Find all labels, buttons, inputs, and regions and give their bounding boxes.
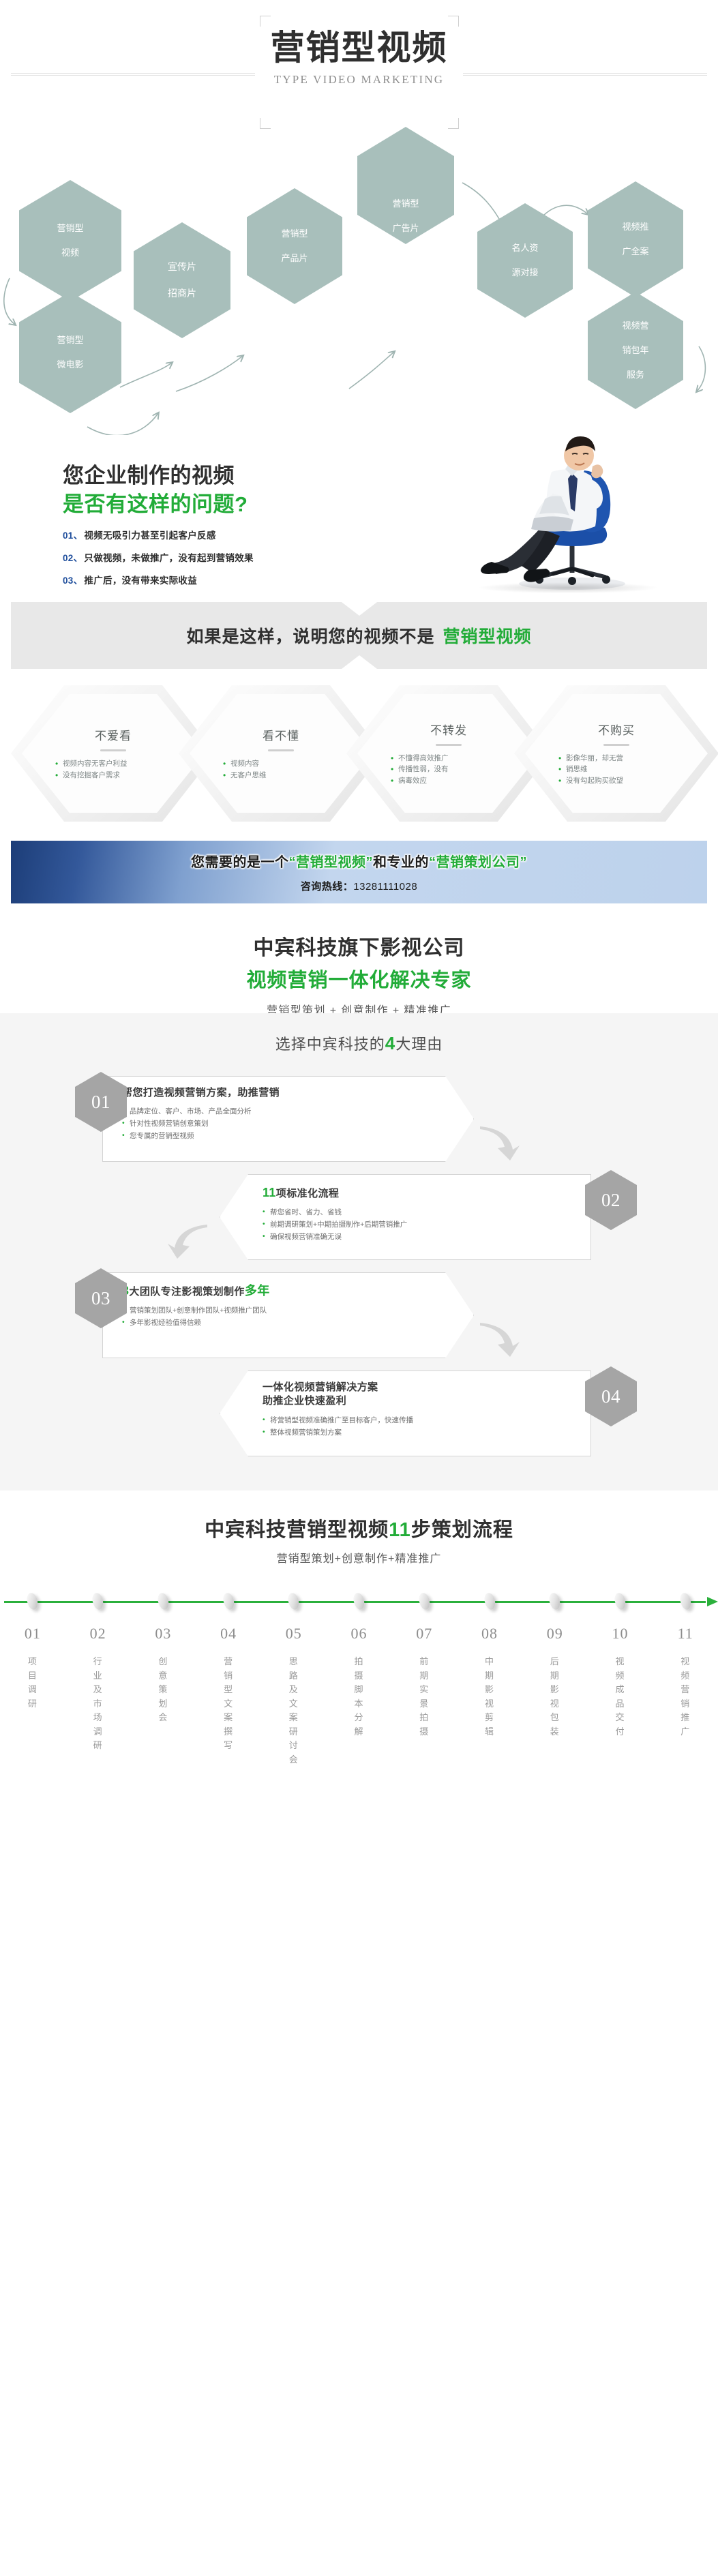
problem-item-text: 只做视频，未做推广，没有起到营销效果 — [84, 550, 253, 564]
grey-banner-text: 如果是这样，说明您的视频不是营销型视频 — [186, 623, 531, 648]
timeline-title-pre: 中宾科技营销型视频 — [205, 1519, 389, 1541]
bullet: 传播性弱，没有 — [391, 764, 513, 775]
reason-card-3[interactable]: 3大团队专注影视策划制作多年 营销策划团队+创意制作团队+视频推广团队 多年影视… — [0, 1268, 718, 1361]
reason-card-body: 一体化视频营销解决方案助推企业快速盈利 将营销型视频准确推广至目标客户，快速传播… — [220, 1371, 591, 1456]
bullet: 无客户思维 — [223, 770, 346, 781]
reason-headline-suffix: 多年 — [245, 1284, 270, 1298]
reason-headline: 11项标准化流程 — [263, 1184, 577, 1201]
timeline-step-8[interactable]: 08 中期影视剪辑 — [457, 1594, 522, 1767]
step-number: 04 — [196, 1625, 261, 1643]
notch-top-icon — [342, 602, 377, 616]
hex-service-3[interactable]: 宣传片招商片 — [134, 222, 230, 338]
bullet: 营销策划团队+创意制作团队+视频推广团队 — [122, 1304, 460, 1317]
grey-banner-plain: 如果是这样，说明您的视频不是 — [186, 627, 434, 646]
timeline-title: 中宾科技营销型视频11步策划流程 — [0, 1514, 718, 1542]
reason-headline: 3大团队专注影视策划制作多年 — [122, 1283, 460, 1299]
corner-bracket-icon — [448, 16, 459, 27]
timeline-title-post: 步策划流程 — [411, 1519, 513, 1541]
hex-label-line3: 服务 — [618, 369, 653, 381]
corner-bracket-icon — [260, 118, 271, 129]
hex-label-line1: 营销型 — [277, 228, 312, 240]
step-label: 行业及市场调研 — [65, 1655, 131, 1753]
step-number: 07 — [391, 1625, 457, 1643]
problem-item-text: 视频无吸引力甚至引起客户反感 — [84, 528, 215, 541]
pin-icon — [613, 1592, 627, 1611]
step-label: 拍摄脚本分解 — [327, 1655, 392, 1739]
page-subtitle-en: TYPE VIDEO MARKETING — [257, 73, 462, 87]
curved-arrow-down-right-icon — [477, 1122, 525, 1162]
badge-pointer-icon — [601, 1229, 620, 1248]
hex-label-line1: 名人资 — [507, 242, 542, 254]
hex-label-line2: 广告片 — [388, 222, 423, 235]
step-label: 中期影视剪辑 — [457, 1655, 522, 1739]
hex-service-7[interactable]: 视频推广全案 — [588, 181, 683, 297]
step-label: 项目调研 — [0, 1655, 65, 1711]
bullet-continuation: 病毒效应 — [391, 775, 513, 786]
hex-label-line1: 宣传片 — [164, 260, 200, 273]
timeline-step-7[interactable]: 07 前期实景拍摄 — [391, 1594, 457, 1767]
pain-card-title: 不购买 — [552, 721, 681, 738]
timeline-step-4[interactable]: 04 营销型文案撰写 — [196, 1594, 261, 1767]
hex-service-6[interactable]: 名人资源对接 — [477, 203, 573, 318]
timeline-subtitle: 营销型策划+创意制作+精准推广 — [0, 1549, 718, 1566]
hero-section: 营销型视频 TYPE VIDEO MARKETING — [0, 0, 718, 162]
step-number: 05 — [261, 1625, 327, 1643]
reasons-title-post: 大理由 — [395, 1036, 443, 1053]
title-underline — [436, 744, 462, 746]
page-title: 营销型视频 — [257, 27, 462, 69]
hex-label-line2: 广全案 — [618, 245, 653, 258]
hex-label-line2: 微电影 — [53, 359, 87, 371]
cta-headline: 您需要的是一个“营销型视频”和专业的“营销策划公司” — [191, 851, 527, 871]
problem-heading-line1: 您企业制作的视频 — [63, 458, 235, 489]
reason-card-body: 11项标准化流程 帮您省时、省力、省钱 前期调研策划+中期拍摄制作+后期营销推广… — [220, 1174, 591, 1260]
step-number: 02 — [65, 1625, 131, 1643]
reason-headline-number: 11 — [263, 1186, 276, 1199]
hex-label-line1: 视频营 — [618, 320, 653, 332]
reason-number: 03 — [91, 1288, 110, 1309]
reason-number: 02 — [601, 1190, 620, 1211]
pain-card-bullets: 视频内容 无客户思维 — [216, 758, 346, 781]
problem-item: 01、 视频无吸引力甚至引起客户反感 — [63, 528, 254, 541]
bullet: 前期调研策划+中期拍摄制作+后期营销推广 — [263, 1218, 577, 1231]
hex-label-line2: 销包年 — [618, 344, 653, 357]
corner-bracket-icon — [260, 16, 271, 27]
timeline-step-10[interactable]: 10 视频成品交付 — [588, 1594, 653, 1767]
step-number: 09 — [522, 1625, 588, 1643]
bullet: 视频内容无客户利益 — [55, 758, 178, 769]
problem-list: 01、 视频无吸引力甚至引起客户反感 02、 只做视频，未做推广，没有起到营销效… — [63, 528, 254, 595]
blue-cta-banner: 您需要的是一个“营销型视频”和专业的“营销策划公司” 咨询热线：13281111… — [11, 841, 707, 903]
pin-icon — [286, 1592, 301, 1611]
reason-card-1[interactable]: 帮您打造视频营销方案，助推营销 品牌定位、客户、市场、产品全面分析 针对性视频营… — [0, 1072, 718, 1165]
cta-text-d: “营销策划公司” — [429, 855, 527, 870]
problem-item-number: 01、 — [63, 528, 83, 541]
bullet: 品牌定位、客户、市场、产品全面分析 — [122, 1105, 460, 1118]
reasons-title-number: 4 — [385, 1033, 395, 1053]
bullet: 影像华丽，却无营 — [558, 753, 681, 764]
hero-title-box: 营销型视频 TYPE VIDEO MARKETING — [257, 12, 462, 132]
cta-text-a: 您需要的是一个 — [191, 855, 289, 870]
photo-ground-shadow — [479, 582, 657, 593]
reason-headline-text: 大团队专注影视策划制作 — [129, 1286, 244, 1298]
pin-icon — [26, 1592, 40, 1611]
hex-service-4[interactable]: 营销型产品片 — [247, 188, 342, 304]
pain-card-title: 看不懂 — [216, 726, 346, 743]
hex-label-line1: 营销型 — [388, 198, 423, 210]
reason-headline-suffix: 助推企业快速盈利 — [263, 1395, 346, 1407]
problem-item-number: 03、 — [63, 573, 83, 586]
company-name: 中宾科技旗下影视公司 — [0, 931, 718, 961]
bullet: 您专属的营销型视频 — [122, 1130, 460, 1142]
pin-icon — [352, 1592, 366, 1611]
pain-card-title: 不转发 — [384, 721, 513, 738]
step-number: 03 — [130, 1625, 196, 1643]
title-underline — [603, 744, 629, 746]
bullet: 确保视频营销准确无误 — [263, 1231, 577, 1243]
reason-headline-text: 项标准化流程 — [276, 1188, 339, 1199]
reasons-title-pre: 选择中宾科技的 — [275, 1036, 385, 1053]
hotline-number[interactable]: 13281111028 — [353, 881, 417, 893]
pin-icon — [483, 1592, 497, 1611]
pin-icon — [548, 1592, 562, 1611]
hex-label-line1: 营销型 — [53, 222, 87, 235]
hex-label-line2: 招商片 — [164, 287, 200, 300]
timeline-section: 中宾科技营销型视频11步策划流程 营销型策划+创意制作+精准推广 01 项目调研… — [0, 1491, 718, 1777]
pin-icon — [417, 1592, 432, 1611]
hex-label-line2: 视频 — [53, 247, 87, 259]
timeline-step-1[interactable]: 01 项目调研 — [0, 1594, 65, 1767]
pain-card-bullets: 不懂得高效推广 传播性弱，没有 病毒效应 — [384, 753, 513, 786]
step-label: 前期实景拍摄 — [391, 1655, 457, 1739]
step-number: 08 — [457, 1625, 522, 1643]
pin-icon — [91, 1592, 105, 1611]
problem-item: 03、 推广后，没有带来实际收益 — [63, 573, 254, 586]
problem-section: 您企业制作的视频 是否有这样的问题? 01、 视频无吸引力甚至引起客户反感 02… — [0, 435, 718, 595]
bullet: 没有勾起购买欲望 — [558, 775, 681, 786]
pain-card-4[interactable]: 不购买 影像华丽，却无营 销思维 没有勾起购买欲望 — [514, 685, 718, 822]
timeline-title-number: 11 — [389, 1519, 411, 1541]
reason-bullets: 品牌定位、客户、市场、产品全面分析 针对性视频营销创意策划 您专属的营销型视频 — [122, 1105, 460, 1142]
pain-card-title: 不爱看 — [48, 726, 178, 743]
hotline-label: 咨询热线： — [301, 881, 354, 893]
pain-card-bullets: 影像华丽，却无营 销思维 没有勾起购买欲望 — [552, 753, 681, 786]
hex-service-8[interactable]: 视频营销包年服务 — [588, 292, 683, 409]
bullet-continuation: 销思维 — [558, 764, 681, 775]
reason-bullets: 营销策划团队+创意制作团队+视频推广团队 多年影视经验值得信赖 — [122, 1304, 460, 1329]
step-number: 06 — [327, 1625, 392, 1643]
hex-label-line1: 视频推 — [618, 221, 653, 233]
timeline-step-2[interactable]: 02 行业及市场调研 — [65, 1594, 131, 1767]
bullet: 整体视频营销策划方案 — [263, 1426, 577, 1439]
hex-label-line1: 营销型 — [53, 334, 87, 346]
problem-item-number: 02、 — [63, 550, 83, 564]
step-number: 11 — [653, 1625, 718, 1643]
bullet: 没有挖掘客户需求 — [55, 770, 178, 781]
title-underline — [268, 749, 294, 751]
businessman-photo — [438, 428, 698, 599]
reason-card-body: 帮您打造视频营销方案，助推营销 品牌定位、客户、市场、产品全面分析 针对性视频营… — [102, 1076, 474, 1162]
bullet: 视频内容 — [223, 758, 346, 769]
timeline-step-6[interactable]: 06 拍摄脚本分解 — [327, 1594, 392, 1767]
reason-number-badge-4: 04 — [585, 1366, 637, 1426]
reason-bullets: 将营销型视频准确推广至目标客户，快速传播 整体视频营销策划方案 — [263, 1414, 577, 1439]
notch-bottom-icon — [342, 655, 377, 669]
pain-point-hex-cards: 不爱看 视频内容无客户利益 没有挖掘客户需求 看不懂 视频内容 无客户思维 — [0, 676, 718, 833]
company-headline-section: 中宾科技旗下影视公司 视频营销一体化解决专家 营销型策划 + 创意制作 + 精准… — [0, 921, 718, 1013]
reason-number-badge-2: 02 — [585, 1170, 637, 1230]
timeline-step-9[interactable]: 09 后期影视包装 — [522, 1594, 588, 1767]
badge-pointer-icon — [601, 1425, 620, 1444]
problem-item: 02、 只做视频，未做推广，没有起到营销效果 — [63, 550, 254, 564]
reason-number: 01 — [91, 1092, 110, 1113]
bullet: 帮您省时、省力、省钱 — [263, 1206, 577, 1218]
curved-arrow-down-right-icon — [477, 1319, 525, 1358]
corner-bracket-icon — [448, 118, 459, 129]
bullet: 针对性视频营销创意策划 — [122, 1118, 460, 1130]
grey-banner-section: 如果是这样，说明您的视频不是营销型视频 — [0, 595, 718, 676]
company-tagline: 视频营销一体化解决专家 — [0, 964, 718, 993]
reasons-title: 选择中宾科技的4大理由 — [0, 1032, 718, 1054]
reason-headline-text: 一体化视频营销解决方案 — [263, 1381, 378, 1393]
step-label: 营销型文案撰写 — [196, 1655, 261, 1753]
bullet: 多年影视经验值得信赖 — [122, 1317, 460, 1329]
cta-hotline[interactable]: 咨询热线：13281111028 — [301, 879, 417, 893]
cta-text-c: 和专业的 — [373, 855, 429, 870]
reason-card-body: 3大团队专注影视策划制作多年 营销策划团队+创意制作团队+视频推广团队 多年影视… — [102, 1272, 474, 1358]
cta-banner-section: 您需要的是一个“营销型视频”和专业的“营销策划公司” 咨询热线：13281111… — [0, 833, 718, 921]
hex-service-1[interactable]: 营销型视频 — [19, 180, 121, 301]
service-hex-cluster: 营销型视频 营销型微电影 宣传片招商片 营销型产品片 营销型广告片 名人资源对接… — [0, 162, 718, 435]
reasons-section: 选择中宾科技的4大理由 帮您打造视频营销方案，助推营销 品牌定位、客户、市场、产… — [0, 1013, 718, 1491]
pain-card-bullets: 视频内容无客户利益 没有挖掘客户需求 — [48, 758, 178, 781]
curved-arrow-down-left-icon — [162, 1220, 210, 1260]
hex-service-2[interactable]: 营销型微电影 — [19, 292, 121, 413]
step-label: 视频营销推广 — [653, 1655, 718, 1739]
hex-label-line2: 产品片 — [277, 252, 312, 265]
pin-icon — [678, 1592, 693, 1611]
step-label: 创意策划会 — [130, 1655, 196, 1725]
step-label: 思路及文案研讨会 — [261, 1655, 327, 1767]
timeline-track: 01 项目调研 02 行业及市场调研 03 创意策划会 04 营销型文案撰写 — [0, 1594, 718, 1777]
timeline-step-5[interactable]: 05 思路及文案研讨会 — [261, 1594, 327, 1767]
hex-label-line2: 源对接 — [507, 267, 542, 279]
grey-banner-accent: 营销型视频 — [443, 627, 532, 646]
landing-page: 营销型视频 TYPE VIDEO MARKETING 营 — [0, 0, 718, 1777]
reason-card-2[interactable]: 11项标准化流程 帮您省时、省力、省钱 前期调研策划+中期拍摄制作+后期营销推广… — [0, 1170, 718, 1263]
step-label: 视频成品交付 — [588, 1655, 653, 1739]
reason-card-4[interactable]: 一体化视频营销解决方案助推企业快速盈利 将营销型视频准确推广至目标客户，快速传播… — [0, 1366, 718, 1459]
pin-icon — [156, 1592, 170, 1611]
reason-headline: 一体化视频营销解决方案助推企业快速盈利 — [263, 1381, 577, 1409]
cta-text-b: “营销型视频” — [289, 855, 374, 870]
timeline-step-3[interactable]: 03 创意策划会 — [130, 1594, 196, 1767]
pin-icon — [222, 1592, 236, 1611]
problem-item-text: 推广后，没有带来实际收益 — [84, 573, 197, 586]
step-number: 10 — [588, 1625, 653, 1643]
grey-banner: 如果是这样，说明您的视频不是营销型视频 — [11, 602, 707, 669]
title-underline — [100, 749, 126, 751]
step-number: 01 — [0, 1625, 65, 1643]
bullet: 将营销型视频准确推广至目标客户，快速传播 — [263, 1414, 577, 1426]
reason-headline: 帮您打造视频营销方案，助推营销 — [122, 1086, 460, 1100]
problem-heading-line2: 是否有这样的问题? — [63, 487, 248, 518]
timeline-steps: 01 项目调研 02 行业及市场调研 03 创意策划会 04 营销型文案撰写 — [0, 1594, 718, 1767]
step-label: 后期影视包装 — [522, 1655, 588, 1739]
reason-number: 04 — [601, 1386, 620, 1407]
bullet: 不懂得高效推广 — [391, 753, 513, 764]
timeline-step-11[interactable]: 11 视频营销推广 — [653, 1594, 718, 1767]
reason-bullets: 帮您省时、省力、省钱 前期调研策划+中期拍摄制作+后期营销推广 确保视频营销准确… — [263, 1206, 577, 1243]
